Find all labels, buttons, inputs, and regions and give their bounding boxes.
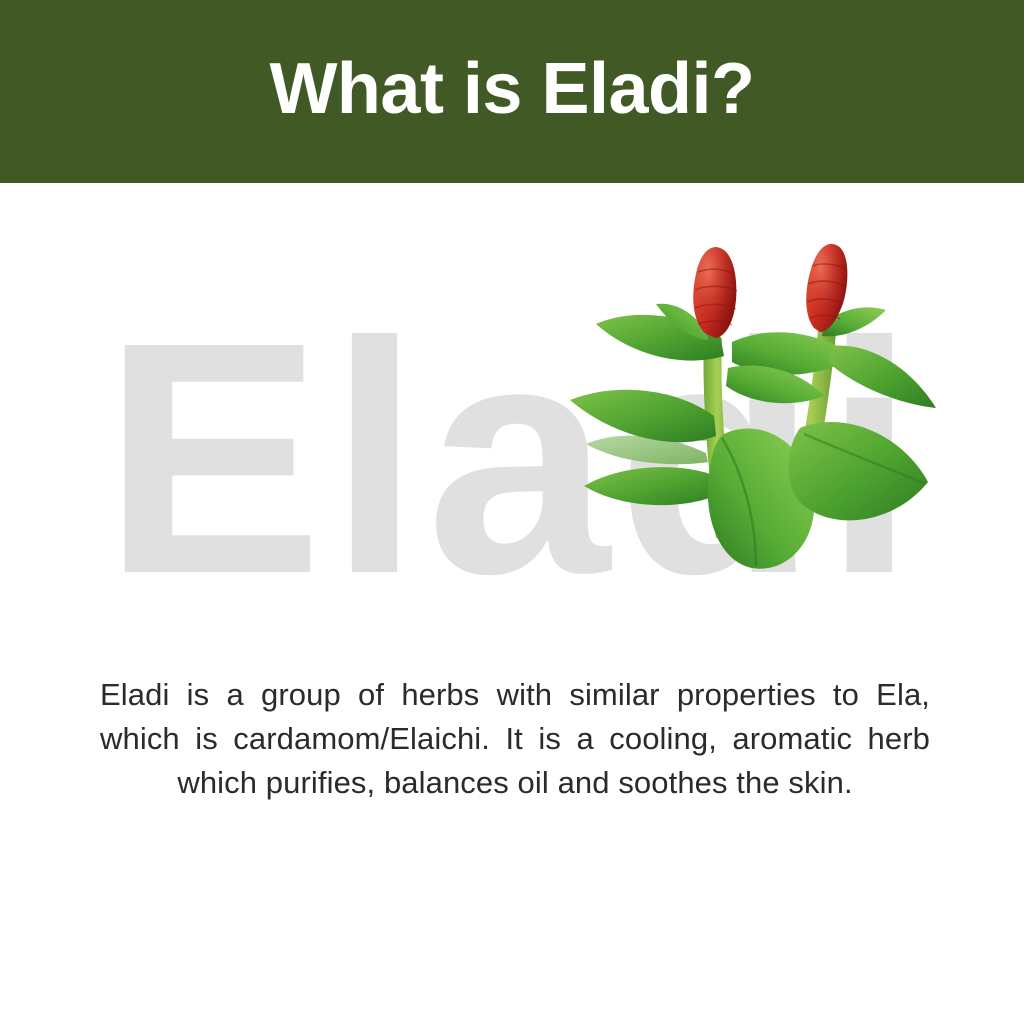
page-title: What is Eladi? (269, 53, 754, 131)
watermark-text: Eladi (0, 323, 1024, 594)
header-band: What is Eladi? (0, 0, 1024, 183)
infographic-card: What is Eladi? Eladi (0, 0, 1024, 1024)
hero-section: Eladi (0, 183, 1024, 663)
description-block: Eladi is a group of herbs with similar p… (100, 673, 930, 805)
description-text: Eladi is a group of herbs with similar p… (100, 673, 930, 805)
